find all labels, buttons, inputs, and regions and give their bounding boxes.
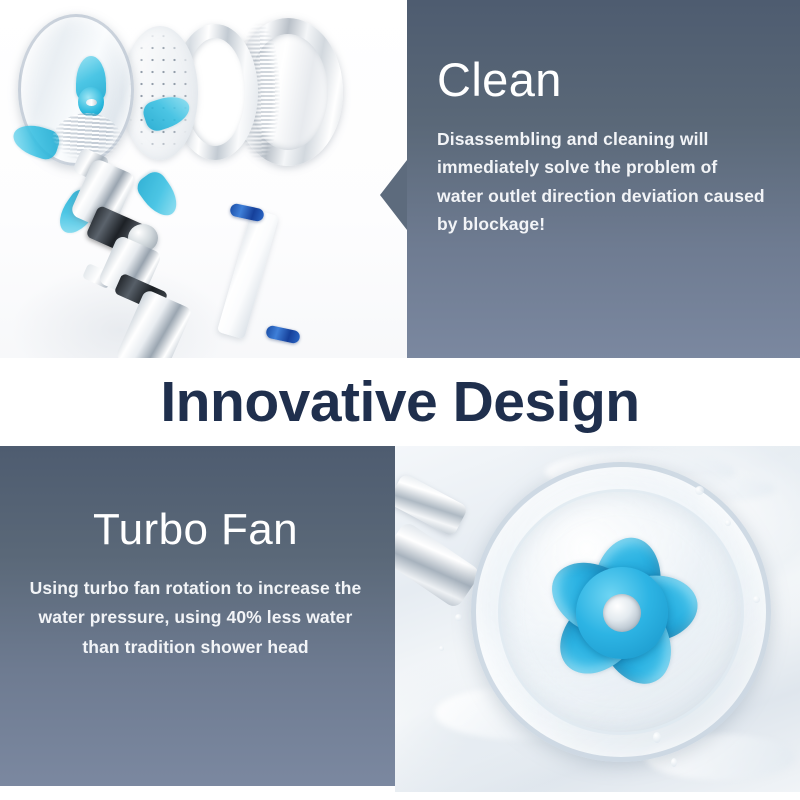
bottom-margin bbox=[0, 792, 800, 800]
clean-text-panel: Clean Disassembling and cleaning will im… bbox=[407, 0, 800, 360]
inlet-pipe-lower bbox=[395, 520, 482, 610]
turbo-fan-blades bbox=[531, 522, 713, 704]
exploded-product-photo bbox=[0, 0, 410, 360]
clear-housing bbox=[18, 14, 134, 166]
page-title: Innovative Design bbox=[160, 374, 639, 431]
handle-lower-barrel bbox=[115, 289, 193, 360]
product-infographic-poster: Clean Disassembling and cleaning will im… bbox=[0, 0, 800, 800]
filter-cartridge bbox=[198, 200, 318, 350]
turbo-heading: Turbo Fan bbox=[26, 508, 365, 552]
turbo-fan-photo bbox=[395, 446, 800, 800]
clean-heading: Clean bbox=[437, 56, 766, 103]
cartridge-cap-bottom bbox=[265, 325, 301, 345]
clean-section: Clean Disassembling and cleaning will im… bbox=[0, 0, 800, 360]
fan-center-hub bbox=[576, 567, 668, 659]
turbo-body-text: Using turbo fan rotation to increase the… bbox=[26, 574, 365, 662]
turbo-text-panel: Turbo Fan Using turbo fan rotation to in… bbox=[0, 446, 395, 786]
cartridge-body bbox=[217, 209, 279, 340]
title-band: Innovative Design bbox=[0, 358, 800, 446]
cartridge-cap-top bbox=[229, 203, 265, 223]
chrome-handle-assembly bbox=[62, 150, 212, 360]
turbo-fan-section: Turbo Fan Using turbo fan rotation to in… bbox=[0, 446, 800, 800]
clean-body-text: Disassembling and cleaning will immediat… bbox=[437, 125, 766, 238]
panel-pointer-left-icon bbox=[380, 160, 407, 230]
